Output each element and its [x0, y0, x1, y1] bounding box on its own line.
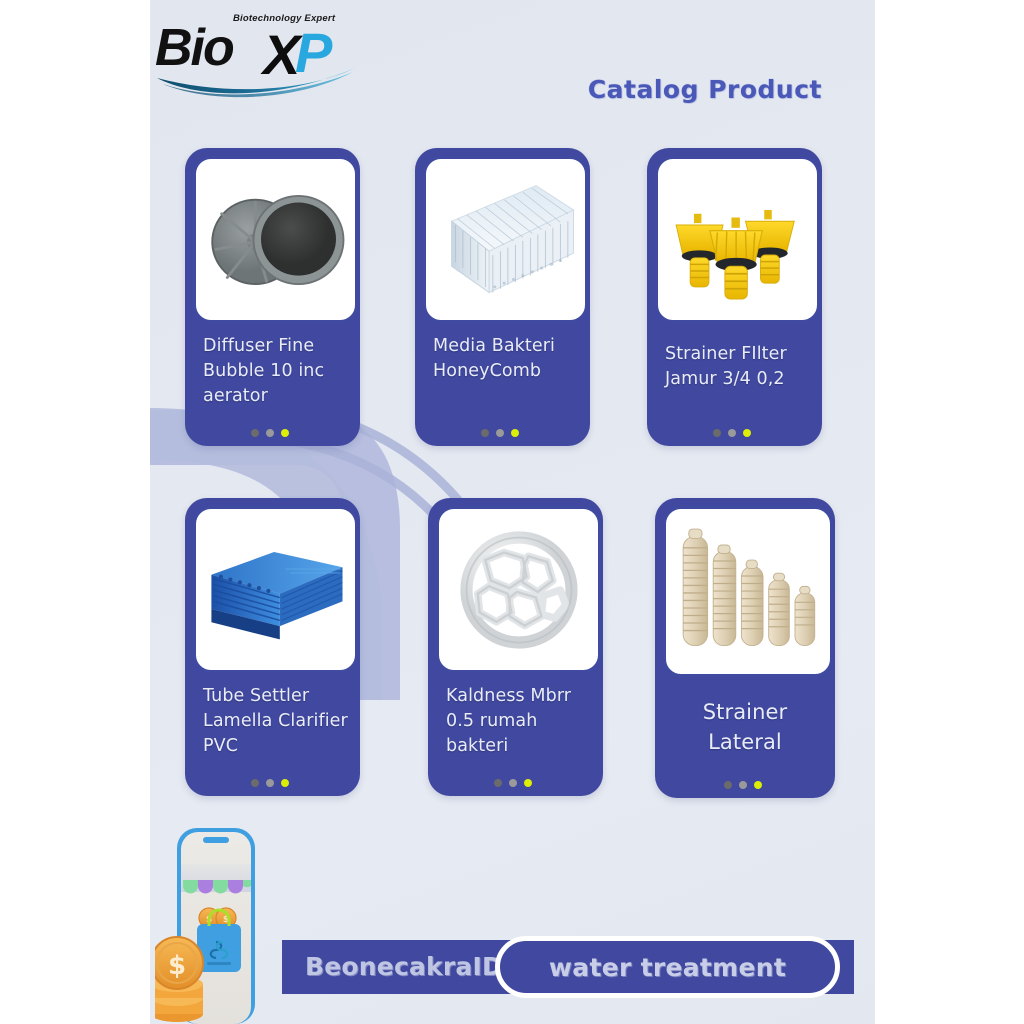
dot-1[interactable] — [251, 779, 259, 787]
brand-logo: Biotechnology Expert Bio X P — [155, 4, 375, 99]
dot-3-active[interactable] — [743, 429, 751, 437]
product-dots-strainer-lateral[interactable] — [724, 781, 762, 789]
product-card-media-bakteri-honeycomb[interactable]: Media Bakteri HoneyComb — [415, 148, 590, 446]
dot-3-active[interactable] — [524, 779, 532, 787]
product-title-kaldness-mbrr: Kaldness Mbrr 0.5 rumah bakteri — [446, 684, 598, 759]
svg-text:$: $ — [168, 951, 186, 981]
product-dots-kaldness-mbrr[interactable] — [494, 779, 532, 787]
footer-pill-label: water treatment — [549, 953, 786, 982]
white-mesh-ball-icon — [444, 515, 594, 665]
dot-2[interactable] — [739, 781, 747, 789]
product-thumb-strainer-filter-jamur — [655, 156, 820, 323]
ecommerce-phone-illustration: $ $ $ — [155, 822, 305, 1024]
product-card-diffuser-fine-bubble[interactable]: Diffuser Fine Bubble 10 inc aerator — [185, 148, 360, 446]
dot-1[interactable] — [713, 429, 721, 437]
product-dots-tube-settler-lamella[interactable] — [251, 779, 289, 787]
beige-lateral-nozzle-icon — [670, 514, 826, 670]
product-dots-media-bakteri-honeycomb[interactable] — [481, 429, 519, 437]
product-card-strainer-lateral[interactable]: Strainer Lateral — [655, 498, 835, 798]
logo-swoosh-icon — [155, 62, 365, 102]
dot-2[interactable] — [496, 429, 504, 437]
blue-lamella-pvc-icon — [200, 514, 352, 666]
dot-3-active[interactable] — [754, 781, 762, 789]
product-thumb-tube-settler-lamella — [193, 506, 358, 673]
product-thumb-media-bakteri-honeycomb — [423, 156, 588, 323]
yellow-mushroom-strainer-icon — [663, 165, 813, 315]
footer-category-pill[interactable]: water treatment — [495, 936, 840, 998]
dot-2[interactable] — [266, 779, 274, 787]
product-card-kaldness-mbrr[interactable]: Kaldness Mbrr 0.5 rumah bakteri — [428, 498, 603, 796]
dot-1[interactable] — [494, 779, 502, 787]
product-title-strainer-lateral: Strainer Lateral — [665, 698, 825, 758]
dot-3-active[interactable] — [281, 429, 289, 437]
product-title-tube-settler-lamella: Tube Settler Lamella Clarifier PVC — [203, 684, 355, 759]
page-title: Catalog Product — [588, 75, 822, 104]
gray-disc-diffuser-icon — [201, 165, 351, 315]
product-thumb-strainer-lateral — [663, 506, 833, 677]
catalog-poster: Biotechnology Expert Bio X P Catalog Pro… — [150, 0, 875, 1024]
footer-brand-label: BeonecakraID — [305, 952, 503, 981]
dot-1[interactable] — [724, 781, 732, 789]
product-thumb-kaldness-mbrr — [436, 506, 601, 673]
product-dots-strainer-filter-jamur[interactable] — [713, 429, 751, 437]
dot-3-active[interactable] — [281, 779, 289, 787]
dot-2[interactable] — [266, 429, 274, 437]
white-honeycomb-block-icon — [431, 165, 581, 315]
product-dots-diffuser-fine-bubble[interactable] — [251, 429, 289, 437]
dot-2[interactable] — [728, 429, 736, 437]
dot-1[interactable] — [481, 429, 489, 437]
dot-1[interactable] — [251, 429, 259, 437]
dot-3-active[interactable] — [511, 429, 519, 437]
product-title-strainer-filter-jamur: Strainer FIlter Jamur 3/4 0,2 — [665, 342, 817, 392]
product-thumb-diffuser-fine-bubble — [193, 156, 358, 323]
product-card-tube-settler-lamella[interactable]: Tube Settler Lamella Clarifier PVC — [185, 498, 360, 796]
dot-2[interactable] — [509, 779, 517, 787]
product-card-strainer-filter-jamur[interactable]: Strainer FIlter Jamur 3/4 0,2 — [647, 148, 822, 446]
product-title-diffuser-fine-bubble: Diffuser Fine Bubble 10 inc aerator — [203, 334, 353, 409]
product-title-media-bakteri-honeycomb: Media Bakteri HoneyComb — [433, 334, 585, 384]
